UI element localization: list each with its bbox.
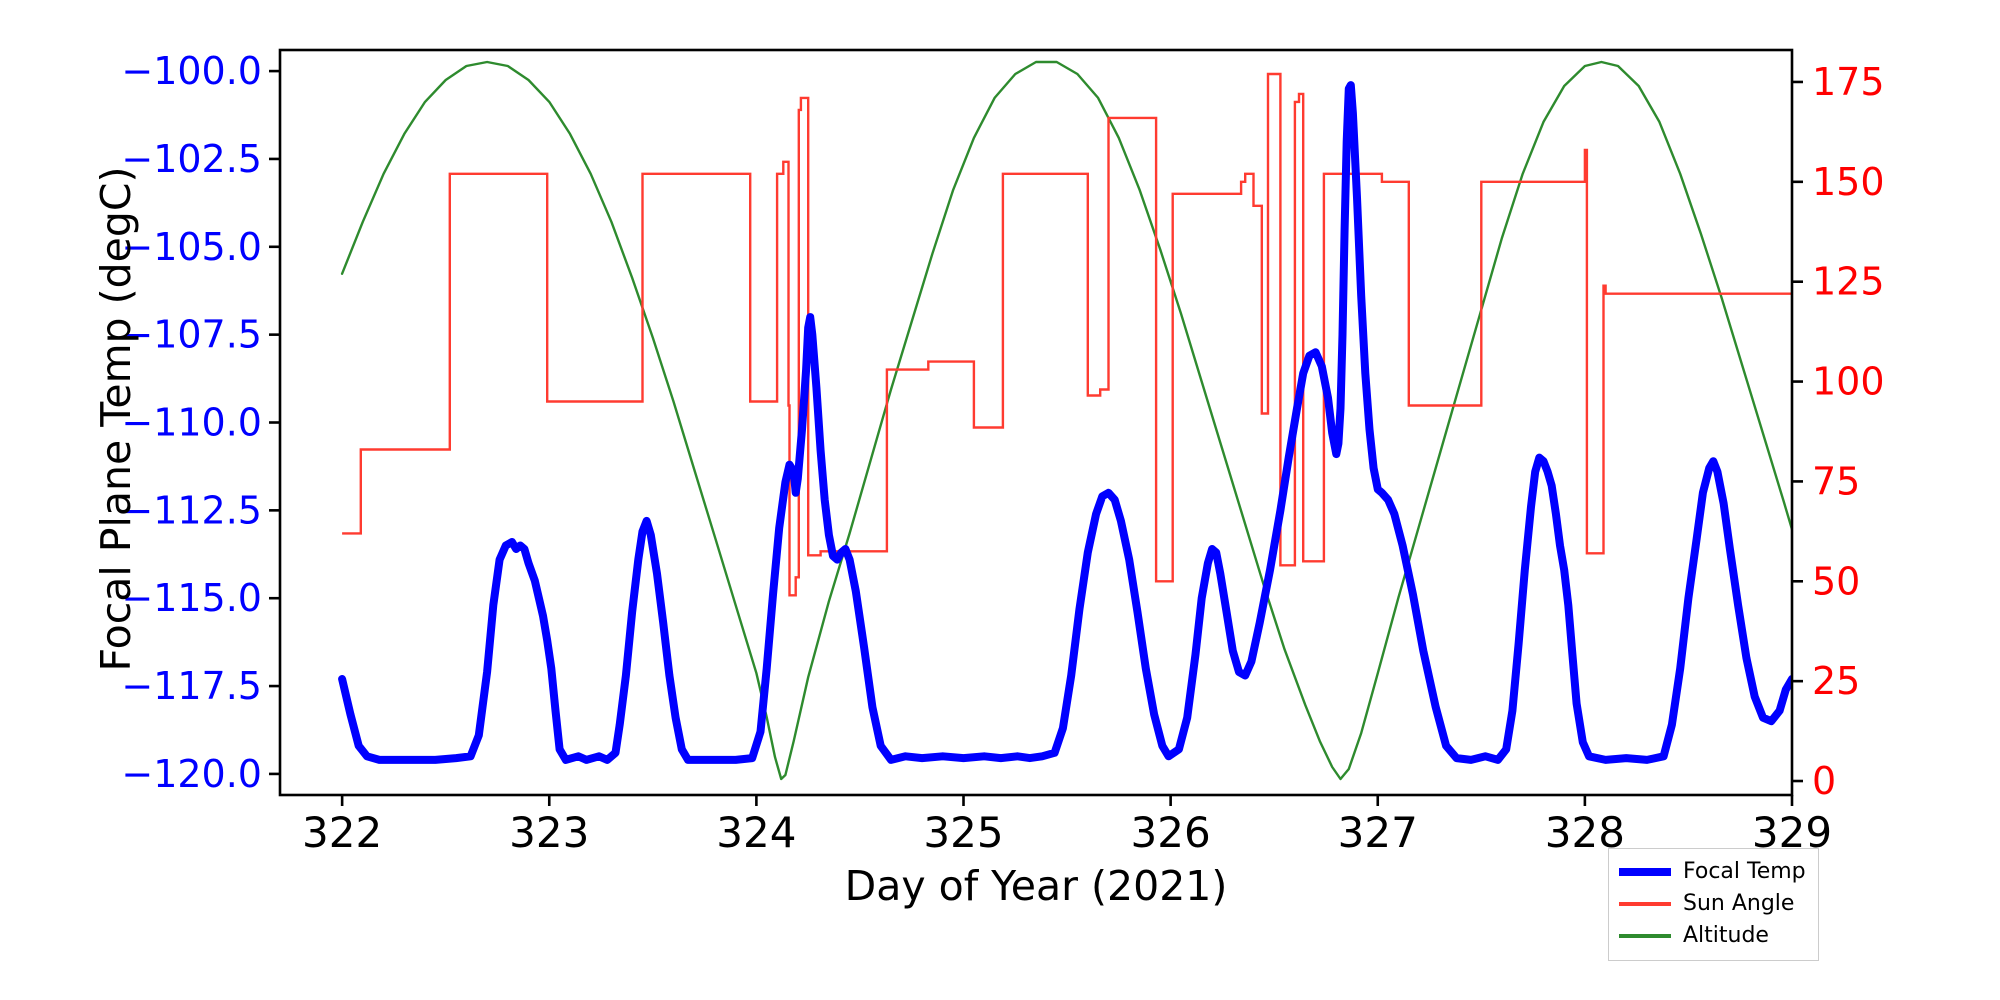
legend-label-sun-angle: Sun Angle xyxy=(1683,893,1794,915)
y-tick-label-right: 0 xyxy=(1812,759,1836,803)
y-tick-label-left: −117.5 xyxy=(121,664,262,708)
y-axis-left-ticks: −120.0−117.5−115.0−112.5−110.0−107.5−105… xyxy=(121,49,280,796)
y-axis-left-label: Focal Plane Temp (degC) xyxy=(92,69,140,769)
y-tick-label-right: 50 xyxy=(1812,559,1860,603)
chart-figure: −120.0−117.5−115.0−112.5−110.0−107.5−105… xyxy=(0,0,2000,1000)
axes-frame xyxy=(280,50,1792,795)
legend-item-sun-angle: Sun Angle xyxy=(1619,888,1806,920)
y-axis-right-ticks: 0255075100125150175 xyxy=(1792,60,1885,803)
y-tick-label-left: −112.5 xyxy=(121,488,262,532)
y-tick-label-right: 100 xyxy=(1812,360,1885,404)
legend-item-focal-temp: Focal Temp xyxy=(1619,856,1806,888)
x-tick-label: 324 xyxy=(716,808,796,857)
x-tick-label: 325 xyxy=(923,808,1003,857)
y-tick-label-left: −105.0 xyxy=(121,225,262,269)
y-tick-label-left: −115.0 xyxy=(121,576,262,620)
focal-temp-line xyxy=(342,85,1792,760)
y-tick-label-right: 150 xyxy=(1812,160,1885,204)
y-tick-label-right: 175 xyxy=(1812,60,1885,104)
chart-legend: Focal Temp Sun Angle Altitude xyxy=(1608,848,1819,961)
x-tick-label: 326 xyxy=(1131,808,1211,857)
sun-angle-line xyxy=(342,74,1792,595)
legend-swatch-focal-temp xyxy=(1619,868,1671,876)
x-axis-label: Day of Year (2021) xyxy=(280,862,1792,910)
legend-swatch-altitude xyxy=(1619,934,1671,938)
y-tick-label-left: −102.5 xyxy=(121,137,262,181)
legend-label-altitude: Altitude xyxy=(1683,925,1769,947)
y-tick-label-right: 75 xyxy=(1812,459,1860,503)
legend-label-focal-temp: Focal Temp xyxy=(1683,861,1806,883)
y-tick-label-left: −100.0 xyxy=(121,49,262,93)
y-tick-label-left: −120.0 xyxy=(121,752,262,796)
x-tick-label: 323 xyxy=(509,808,589,857)
legend-swatch-sun-angle xyxy=(1619,902,1671,906)
legend-item-altitude: Altitude xyxy=(1619,920,1806,952)
y-tick-label-right: 125 xyxy=(1812,260,1885,304)
x-tick-label: 327 xyxy=(1338,808,1418,857)
x-tick-label: 322 xyxy=(302,808,382,857)
x-axis-ticks: 322323324325326327328329 xyxy=(302,795,1832,857)
plot-data-layer xyxy=(342,62,1792,779)
plot-border xyxy=(280,50,1792,795)
y-tick-label-left: −107.5 xyxy=(121,313,262,357)
y-tick-label-right: 25 xyxy=(1812,659,1860,703)
y-tick-label-left: −110.0 xyxy=(121,401,262,445)
